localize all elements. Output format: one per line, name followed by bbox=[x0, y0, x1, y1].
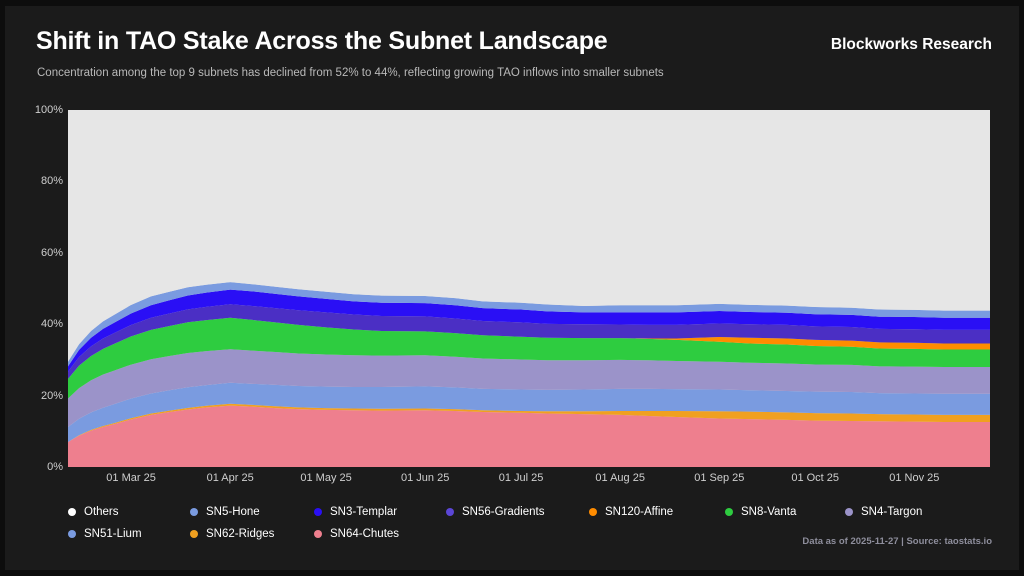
x-axis: 01 Mar 2501 Apr 2501 May 2501 Jun 2501 J… bbox=[68, 472, 990, 490]
x-axis-tick-label: 01 Aug 25 bbox=[595, 472, 645, 484]
y-axis-tick-label: 60% bbox=[7, 247, 63, 259]
brand-label: Blockworks Research bbox=[831, 36, 992, 54]
chart-inner: Shift in TAO Stake Across the Subnet Lan… bbox=[5, 6, 1019, 570]
legend-label: SN5-Hone bbox=[206, 506, 260, 518]
y-axis-tick-label: 100% bbox=[7, 104, 63, 116]
legend-item-sn8-vanta[interactable]: SN8-Vanta bbox=[725, 506, 845, 518]
legend-row: OthersSN5-HoneSN3-TemplarSN56-GradientsS… bbox=[68, 502, 928, 521]
legend-swatch-icon bbox=[314, 530, 322, 538]
legend-label: SN120-Affine bbox=[605, 506, 673, 518]
stacked-area-plot bbox=[68, 110, 990, 467]
x-axis-tick-label: 01 Jun 25 bbox=[401, 472, 449, 484]
chart-page: Shift in TAO Stake Across the Subnet Lan… bbox=[0, 0, 1024, 576]
legend-swatch-icon bbox=[68, 508, 76, 516]
legend-item-sn3-templar[interactable]: SN3-Templar bbox=[314, 506, 446, 518]
x-axis-tick-label: 01 May 25 bbox=[300, 472, 351, 484]
x-axis-tick-label: 01 Mar 25 bbox=[106, 472, 156, 484]
legend-swatch-icon bbox=[190, 508, 198, 516]
page-subtitle: Concentration among the top 9 subnets ha… bbox=[37, 67, 664, 79]
legend-row: SN51-LiumSN62-RidgesSN64-Chutes bbox=[68, 524, 928, 543]
y-axis-tick-label: 0% bbox=[7, 461, 63, 473]
x-axis-tick-label: 01 Nov 25 bbox=[889, 472, 939, 484]
legend-swatch-icon bbox=[68, 530, 76, 538]
y-axis-tick-label: 40% bbox=[7, 318, 63, 330]
x-axis-tick-label: 01 Sep 25 bbox=[694, 472, 744, 484]
y-axis-tick-label: 20% bbox=[7, 390, 63, 402]
legend-swatch-icon bbox=[725, 508, 733, 516]
legend-label: Others bbox=[84, 506, 119, 518]
page-title: Shift in TAO Stake Across the Subnet Lan… bbox=[36, 27, 607, 56]
source-footnote: Data as of 2025-11-27 | Source: taostats… bbox=[802, 536, 992, 547]
legend-item-sn62-ridges[interactable]: SN62-Ridges bbox=[190, 528, 314, 540]
legend-label: SN56-Gradients bbox=[462, 506, 544, 518]
legend-item-sn120-affine[interactable]: SN120-Affine bbox=[589, 506, 725, 518]
legend-label: SN4-Targon bbox=[861, 506, 922, 518]
y-axis-tick-label: 80% bbox=[7, 175, 63, 187]
legend-label: SN62-Ridges bbox=[206, 528, 274, 540]
legend-swatch-icon bbox=[314, 508, 322, 516]
legend-label: SN3-Templar bbox=[330, 506, 397, 518]
legend-item-sn56-gradients[interactable]: SN56-Gradients bbox=[446, 506, 589, 518]
x-axis-tick-label: 01 Apr 25 bbox=[207, 472, 254, 484]
y-axis: 0%20%40%60%80%100% bbox=[5, 110, 63, 467]
legend-swatch-icon bbox=[190, 530, 198, 538]
legend-item-sn51-lium[interactable]: SN51-Lium bbox=[68, 528, 190, 540]
legend-item-sn5-hone[interactable]: SN5-Hone bbox=[190, 506, 314, 518]
area-series-svg bbox=[68, 110, 990, 467]
legend-swatch-icon bbox=[589, 508, 597, 516]
x-axis-tick-label: 01 Oct 25 bbox=[791, 472, 839, 484]
legend-swatch-icon bbox=[845, 508, 853, 516]
legend-label: SN64-Chutes bbox=[330, 528, 399, 540]
legend-item-sn64-chutes[interactable]: SN64-Chutes bbox=[314, 528, 446, 540]
x-axis-tick-label: 01 Jul 25 bbox=[499, 472, 544, 484]
legend-swatch-icon bbox=[446, 508, 454, 516]
legend-item-sn4-targon[interactable]: SN4-Targon bbox=[845, 506, 965, 518]
plot-wrapper bbox=[68, 110, 990, 467]
legend-label: SN8-Vanta bbox=[741, 506, 796, 518]
legend-item-others[interactable]: Others bbox=[68, 506, 190, 518]
chart-legend: OthersSN5-HoneSN3-TemplarSN56-GradientsS… bbox=[68, 502, 928, 546]
legend-label: SN51-Lium bbox=[84, 528, 142, 540]
